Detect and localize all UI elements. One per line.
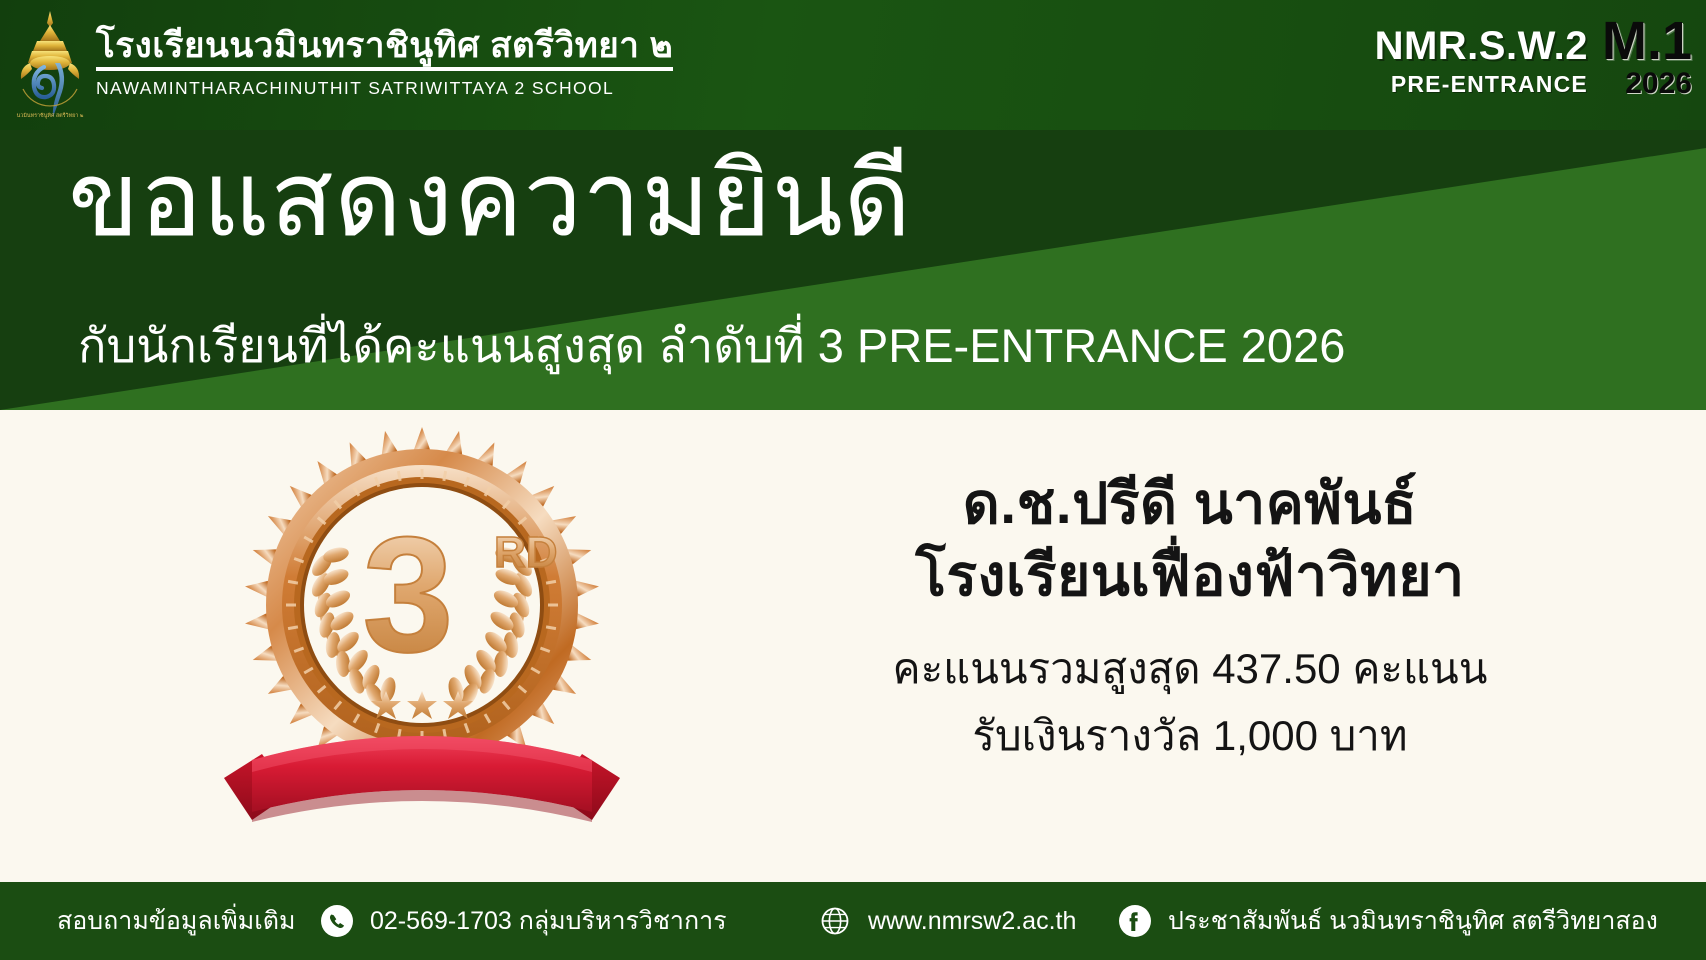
footer-website-text: www.nmrsw2.ac.th bbox=[868, 907, 1076, 936]
bronze-medal-icon: 3 RD bbox=[212, 422, 632, 852]
school-name-english: NAWAMINTHARACHINUTHIT SATRIWITTAYA 2 SCH… bbox=[96, 78, 673, 99]
total-score-line: คะแนนรวมสูงสุด 437.50 คะแนน bbox=[700, 641, 1680, 698]
grade-year-block: M.1 2026 bbox=[1602, 16, 1692, 99]
globe-icon bbox=[820, 906, 850, 936]
footer-website-item[interactable]: www.nmrsw2.ac.th bbox=[820, 906, 1076, 936]
congratulations-headline: ขอแสดงความยินดี bbox=[68, 146, 911, 255]
footer-facebook-text: ประชาสัมพันธ์ นวมินทราชินูทิศ สตรีวิทยาส… bbox=[1168, 901, 1658, 941]
medal-rank-suffix: RD bbox=[494, 528, 558, 577]
exam-brand-subtitle: PRE-ENTRANCE bbox=[1375, 71, 1588, 98]
third-place-medal: 3 RD bbox=[212, 422, 632, 852]
year-label: 2026 bbox=[1602, 69, 1692, 99]
svg-text:นวมินทราชินูทิศ สตรีวิทยา ๒: นวมินทราชินูทิศ สตรีวิทยา ๒ bbox=[17, 112, 84, 119]
prize-money-line: รับเงินรางวัล 1,000 บาท bbox=[700, 708, 1680, 765]
ribbon-banner bbox=[224, 736, 620, 822]
footer-ask-label: สอบถามข้อมูลเพิ่มเติม bbox=[57, 901, 295, 941]
footer-facebook-item[interactable]: ประชาสัมพันธ์ นวมินทราชินูทิศ สตรีวิทยาส… bbox=[1118, 901, 1658, 941]
exam-brand-code-block: NMR.S.W.2 PRE-ENTRANCE bbox=[1375, 16, 1588, 98]
facebook-icon bbox=[1118, 904, 1152, 938]
award-content-area: 3 RD ด.ช.ปรีดี นาคพันธ์ โรงเรียนเฟื่อ bbox=[0, 410, 1706, 880]
footer-phone-item[interactable]: 02-569-1703 กลุ่มบริหารวิชาการ bbox=[320, 901, 727, 941]
student-school-name: โรงเรียนเฟื่องฟ้าวิทยา bbox=[700, 542, 1680, 612]
medal-rank-number: 3 bbox=[362, 503, 453, 686]
award-details: ด.ช.ปรีดี นาคพันธ์ โรงเรียนเฟื่องฟ้าวิทย… bbox=[700, 470, 1680, 764]
congratulations-subtitle: กับนักเรียนที่ได้คะแนนสูงสุด ลำดับที่ 3 … bbox=[78, 308, 1345, 383]
school-name-thai: โรงเรียนนวมินทราชินูทิศ สตรีวิทยา ๒ bbox=[96, 26, 673, 71]
footer-phone-text: 02-569-1703 กลุ่มบริหารวิชาการ bbox=[370, 901, 727, 941]
royal-crown-emblem-icon: นวมินทราชินูทิศ สตรีวิทยา ๒ bbox=[11, 7, 89, 123]
contact-footer: สอบถามข้อมูลเพิ่มเติม 02-569-1703 กลุ่มบ… bbox=[0, 882, 1706, 960]
header-bar: นวมินทราชินูทิศ สตรีวิทยา ๒ โรงเรียนนวมิ… bbox=[0, 0, 1706, 130]
school-title-block: โรงเรียนนวมินทราชินูทิศ สตรีวิทยา ๒ NAWA… bbox=[96, 26, 673, 99]
phone-icon bbox=[320, 904, 354, 938]
exam-brand-code: NMR.S.W.2 bbox=[1375, 26, 1588, 66]
exam-brand-block: NMR.S.W.2 PRE-ENTRANCE M.1 2026 bbox=[1375, 16, 1692, 99]
school-logo: นวมินทราชินูทิศ สตรีวิทยา ๒ bbox=[8, 4, 92, 126]
congratulations-band: ขอแสดงความยินดี กับนักเรียนที่ได้คะแนนสู… bbox=[0, 130, 1706, 410]
student-name: ด.ช.ปรีดี นาคพันธ์ bbox=[700, 470, 1680, 540]
grade-level-label: M.1 bbox=[1602, 16, 1692, 67]
